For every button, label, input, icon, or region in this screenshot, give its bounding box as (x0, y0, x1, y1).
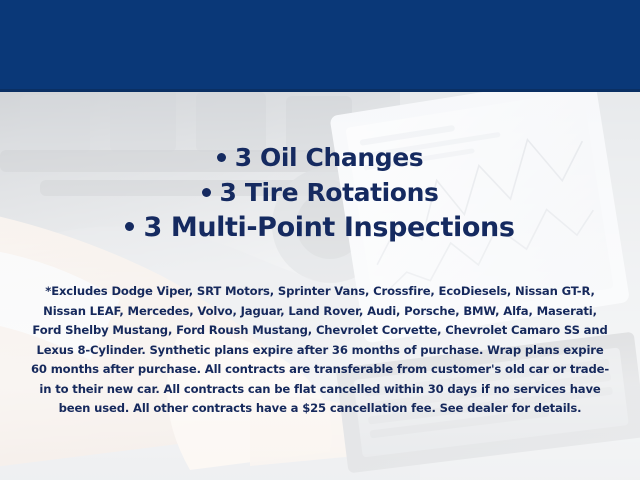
main-content: 3 Oil Changes 3 Tire Rotations 3 Multi-P… (0, 92, 640, 480)
list-item: 3 Multi-Point Inspections (0, 210, 640, 245)
list-item: 3 Oil Changes (0, 140, 640, 175)
bullet-dot-icon (125, 222, 134, 231)
disclaimer-text: *Excludes Dodge Viper, SRT Motors, Sprin… (28, 282, 612, 419)
benefit-label: 3 Oil Changes (235, 143, 424, 172)
benefits-list: 3 Oil Changes 3 Tire Rotations 3 Multi-P… (0, 140, 640, 245)
extracare-package-ad: ExtraCare Package* 3 Oil Changes 3 Tire … (0, 0, 640, 480)
bullet-dot-icon (202, 188, 211, 197)
disclaimer-paragraph: *Excludes Dodge Viper, SRT Motors, Sprin… (28, 282, 612, 419)
benefit-label: 3 Tire Rotations (220, 178, 439, 207)
benefit-label: 3 Multi-Point Inspections (143, 212, 514, 243)
bullet-dot-icon (217, 153, 226, 162)
list-item: 3 Tire Rotations (0, 175, 640, 210)
header-band (0, 0, 640, 92)
